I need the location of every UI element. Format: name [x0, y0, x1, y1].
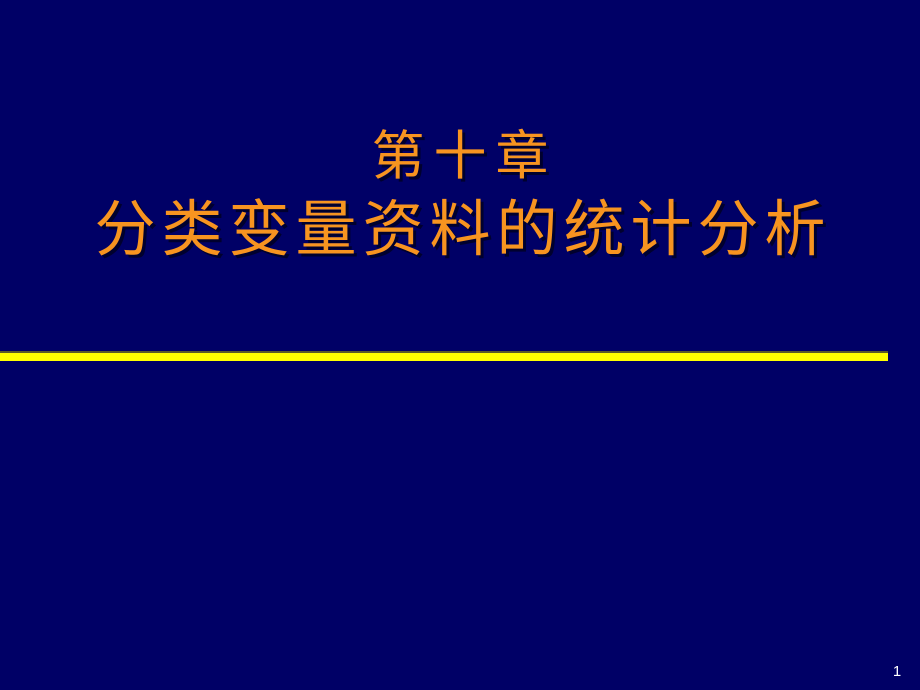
presentation-slide: 第十章 分类变量资料的统计分析 1	[0, 0, 920, 690]
yellow-divider-rule	[0, 353, 888, 361]
chapter-subject-title: 分类变量资料的统计分析	[0, 197, 920, 263]
chapter-number-title: 第十章	[0, 128, 920, 185]
slide-title-block: 第十章 分类变量资料的统计分析	[0, 128, 920, 263]
page-number: 1	[886, 663, 908, 681]
